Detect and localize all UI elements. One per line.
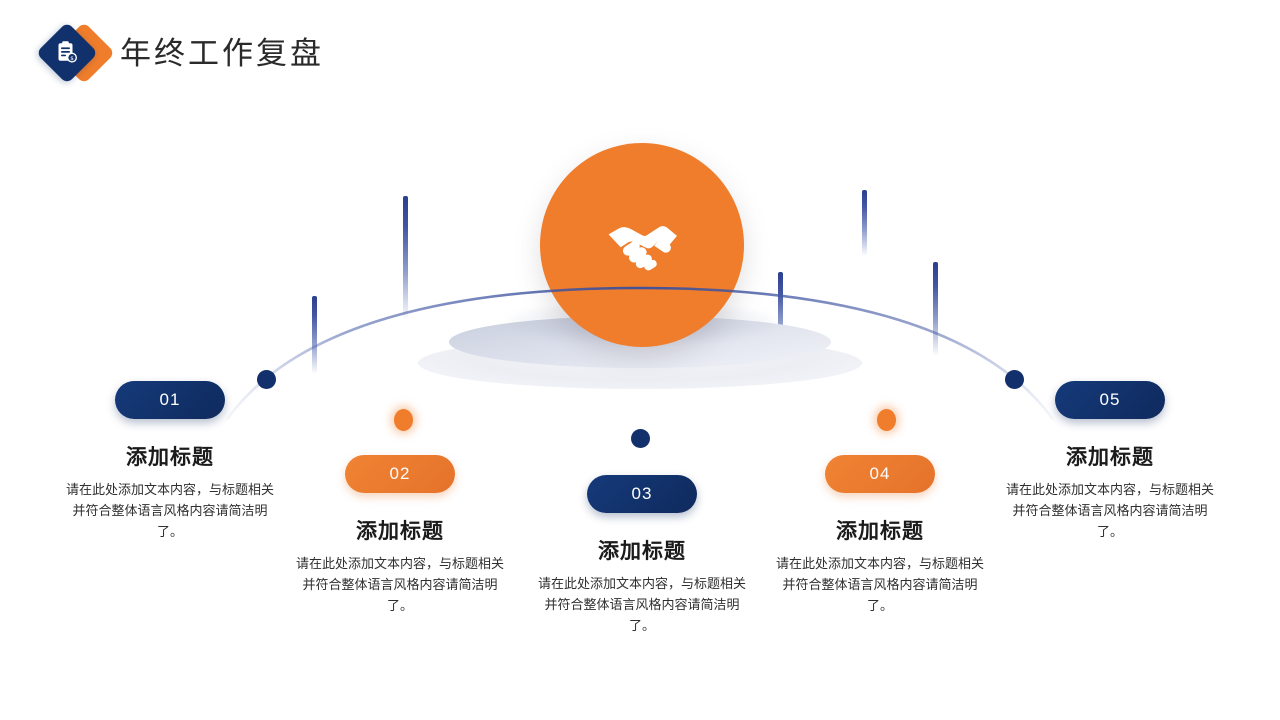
clipboard-coin-icon: $ (54, 40, 80, 66)
step-item-04[interactable]: 04 添加标题 请在此处添加文本内容，与标题相关并符合整体语言风格内容请简洁明了… (750, 455, 1010, 617)
step-item-02[interactable]: 02 添加标题 请在此处添加文本内容，与标题相关并符合整体语言风格内容请简洁明了… (270, 455, 530, 617)
step-title-03: 添加标题 (512, 535, 772, 565)
step-number-badge-01[interactable]: 01 (115, 381, 225, 419)
step-body-02: 请在此处添加文本内容，与标题相关并符合整体语言风格内容请简洁明了。 (270, 554, 530, 617)
decor-bar-4 (862, 190, 867, 256)
step-title-05: 添加标题 (980, 441, 1240, 471)
step-title-01: 添加标题 (40, 441, 300, 471)
step-number-badge-05[interactable]: 05 (1055, 381, 1165, 419)
step-body-03: 请在此处添加文本内容，与标题相关并符合整体语言风格内容请简洁明了。 (512, 574, 772, 637)
step-number-01: 01 (160, 390, 181, 410)
slide-canvas: $ 年终工作复盘 (0, 0, 1280, 720)
svg-text:$: $ (70, 56, 74, 62)
step-body-04: 请在此处添加文本内容，与标题相关并符合整体语言风格内容请简洁明了。 (750, 554, 1010, 617)
step-title-04: 添加标题 (750, 515, 1010, 545)
step-number-05: 05 (1100, 390, 1121, 410)
slide-header: $ 年终工作复盘 (0, 0, 1280, 110)
arc-node-04 (877, 409, 896, 431)
step-number-02: 02 (390, 464, 411, 484)
step-title-02: 添加标题 (270, 515, 530, 545)
step-item-05[interactable]: 05 添加标题 请在此处添加文本内容，与标题相关并符合整体语言风格内容请简洁明了… (980, 381, 1240, 543)
handshake-icon (604, 207, 680, 283)
step-number-badge-02[interactable]: 02 (345, 455, 455, 493)
step-number-badge-03[interactable]: 03 (587, 475, 697, 513)
step-number-04: 04 (870, 464, 891, 484)
step-body-01: 请在此处添加文本内容，与标题相关并符合整体语言风格内容请简洁明了。 (40, 480, 300, 543)
step-number-badge-04[interactable]: 04 (825, 455, 935, 493)
step-number-03: 03 (632, 484, 653, 504)
logo-mark: $ (36, 22, 114, 84)
arc-node-03 (631, 429, 650, 448)
step-item-03[interactable]: 03 添加标题 请在此处添加文本内容，与标题相关并符合整体语言风格内容请简洁明了… (512, 475, 772, 637)
step-body-05: 请在此处添加文本内容，与标题相关并符合整体语言风格内容请简洁明了。 (980, 480, 1240, 543)
step-item-01[interactable]: 01 添加标题 请在此处添加文本内容，与标题相关并符合整体语言风格内容请简洁明了… (40, 381, 300, 543)
page-title: 年终工作复盘 (120, 28, 324, 73)
arc-node-02 (394, 409, 413, 431)
